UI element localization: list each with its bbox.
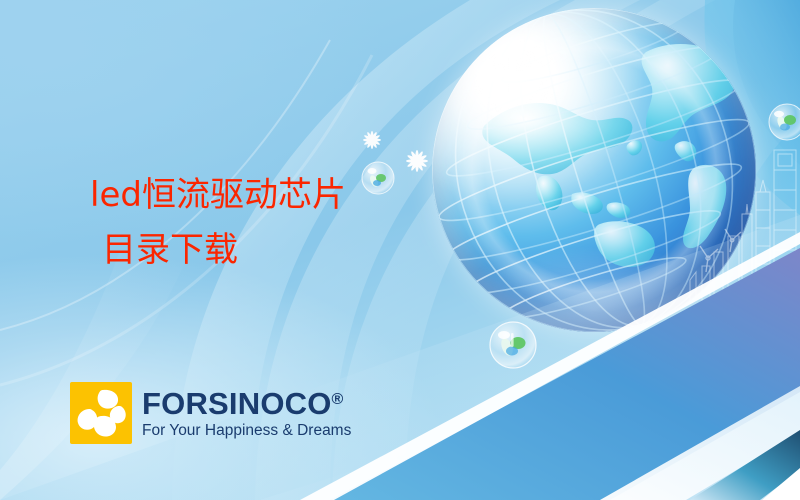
brand-name: FORSINOCO®: [142, 388, 351, 419]
headline-line-2: 目录下载: [90, 223, 430, 278]
registered-mark: ®: [332, 391, 344, 408]
brand-tagline: For Your Happiness & Dreams: [142, 423, 351, 439]
promo-banner: led恒流驱动芯片 目录下载 FORSINOCO® For Your Happ: [0, 0, 800, 500]
headline-line-1: led恒流驱动芯片: [90, 175, 346, 215]
company-logo: FORSINOCO® For Your Happiness & Dreams: [70, 382, 351, 444]
forsinoco-pinwheel-mark: [70, 382, 132, 444]
brand-word: FORSINOCO: [142, 386, 332, 421]
headline: led恒流驱动芯片 目录下载: [90, 168, 430, 278]
